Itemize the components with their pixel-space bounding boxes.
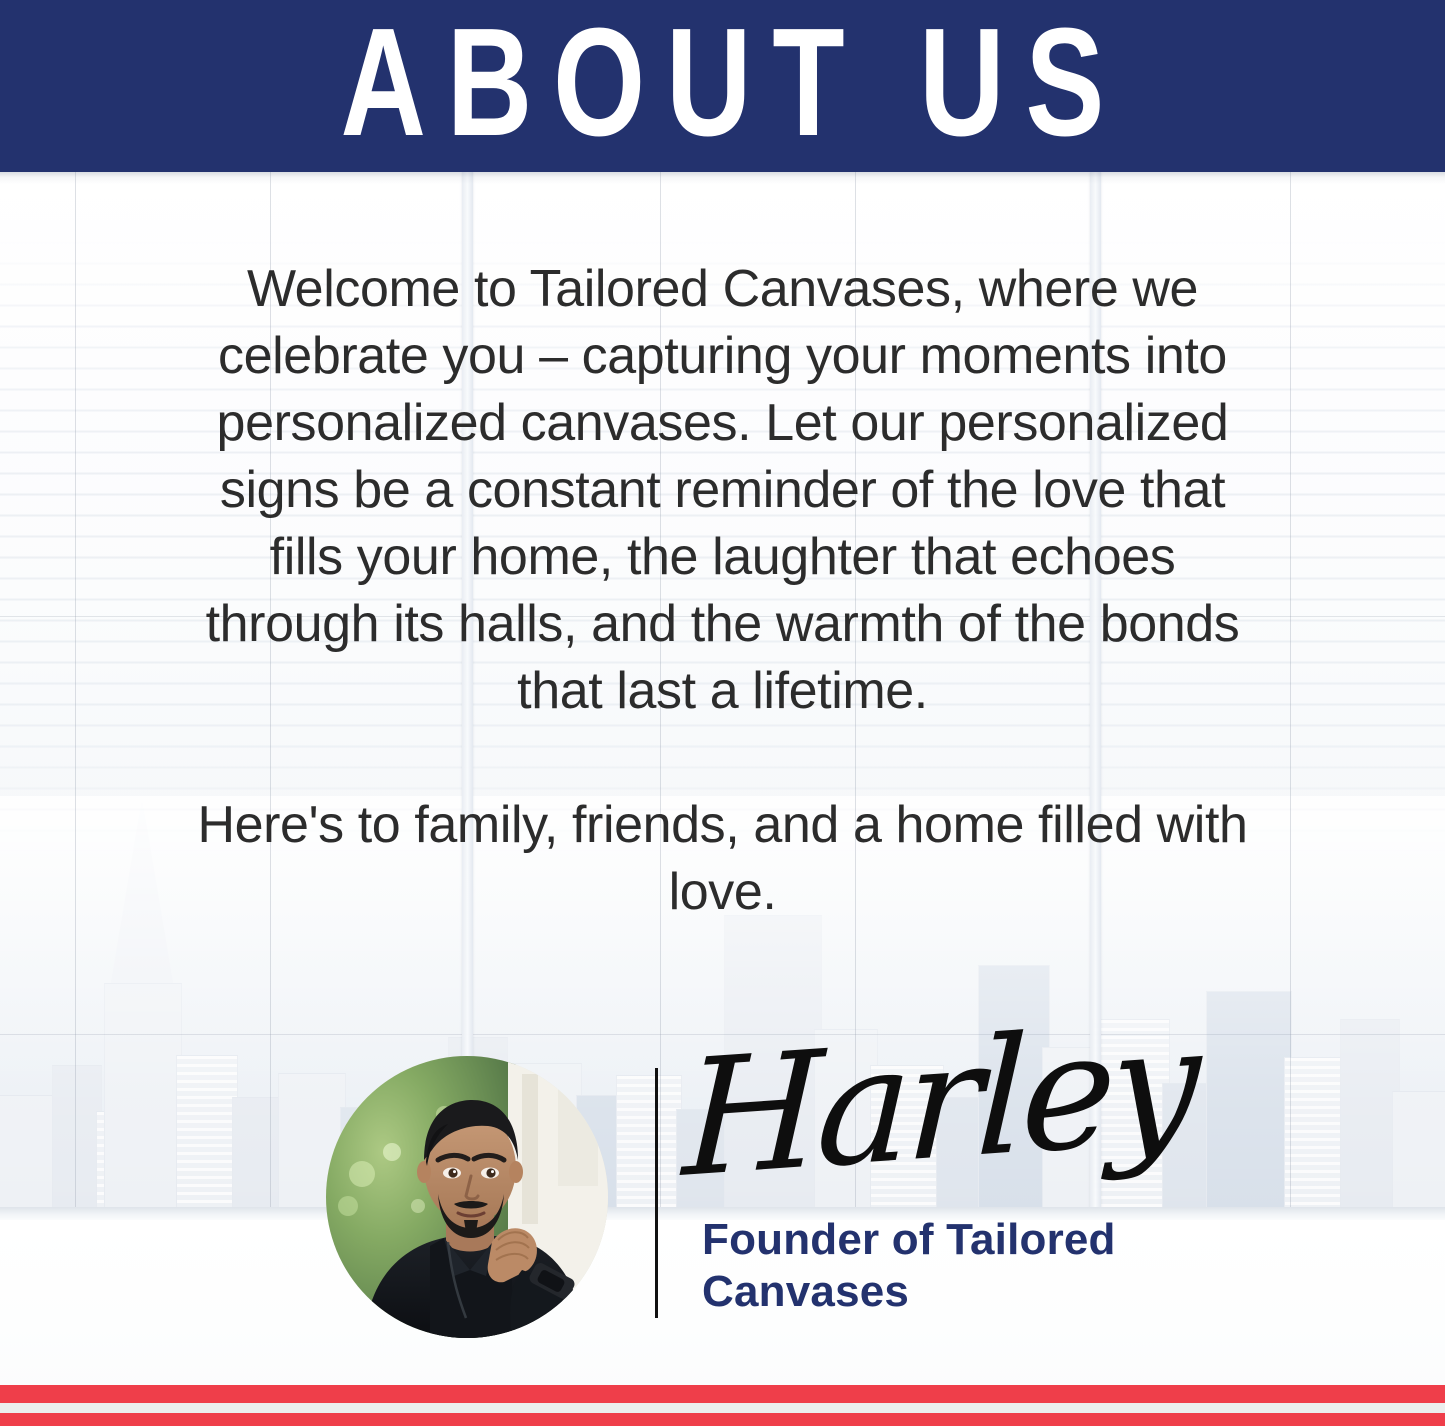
- page-title: ABOUT US: [320, 6, 1126, 160]
- paragraph-spacer: [193, 725, 1253, 792]
- founder-role-line-2: Canvases: [702, 1266, 1152, 1318]
- founder-signature-block: Harley Founder of Tailored Canvases: [326, 1048, 1186, 1348]
- footer-bar-top: [0, 1385, 1445, 1403]
- footer-bar-gap: [0, 1403, 1445, 1413]
- about-us-header-banner: ABOUT US: [0, 0, 1445, 172]
- avatar: [326, 1056, 608, 1338]
- footer-bar-bottom: [0, 1413, 1445, 1426]
- intro-paragraph: Welcome to Tailored Canvases, where we c…: [193, 256, 1253, 725]
- about-us-poster: ABOUT US Welcome to Tailored Canvases, w…: [0, 0, 1445, 1426]
- signature-divider: [655, 1068, 658, 1318]
- founder-signature: Harley: [681, 1004, 1197, 1200]
- about-us-body-copy: Welcome to Tailored Canvases, where we c…: [193, 256, 1253, 926]
- closing-paragraph: Here's to family, friends, and a home fi…: [193, 792, 1253, 926]
- founder-role-line-1: Founder of Tailored: [702, 1214, 1152, 1266]
- founder-role: Founder of Tailored Canvases: [702, 1214, 1152, 1318]
